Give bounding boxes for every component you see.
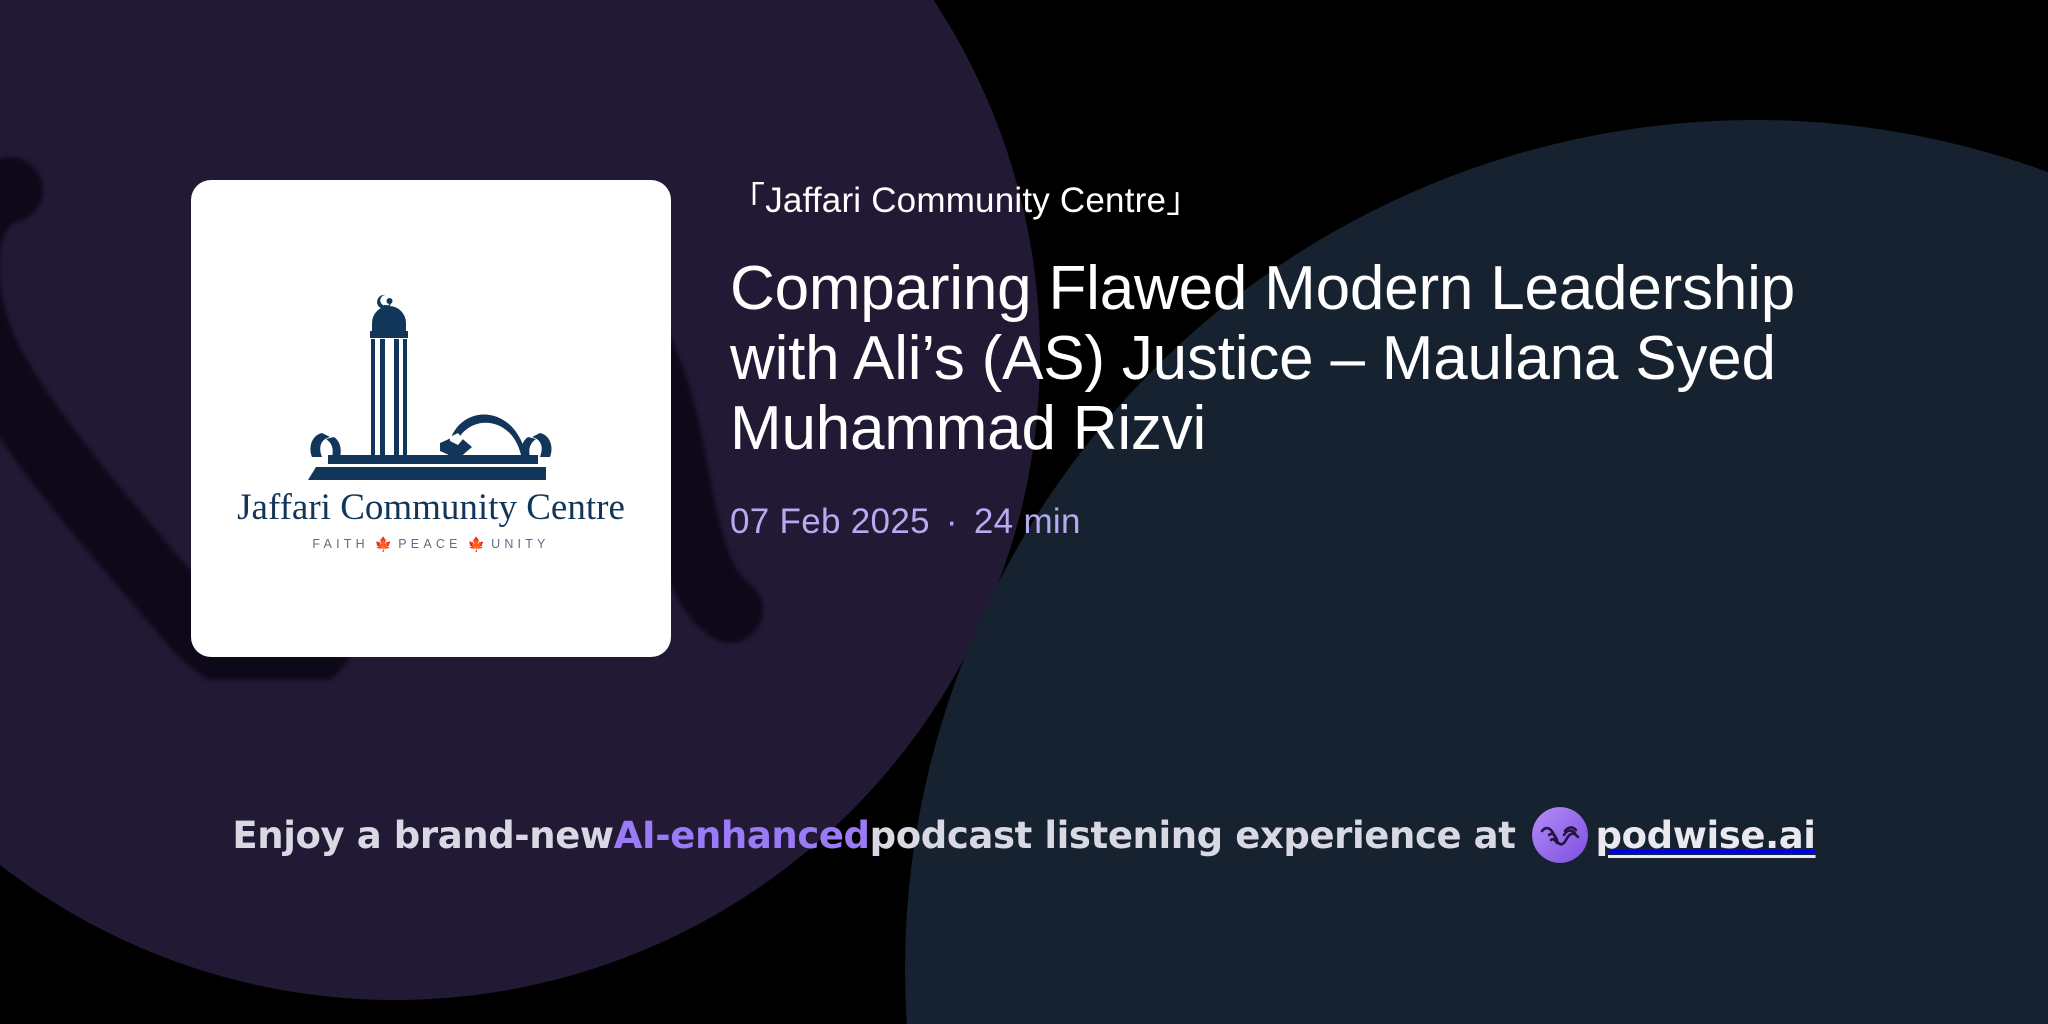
podwise-brand-link[interactable]: podwise.ai [1532,807,1816,863]
footer-accent-text: AI-enhanced [614,814,870,857]
episode-meta: 07 Feb 2025 · 24 min [730,502,1960,542]
podwise-episode-share-card: Jaffari Community Centre FAITH 🍁 PEACE 🍁… [0,0,2048,1024]
episode-title: Comparing Flawed Modern Leadership with … [730,254,1900,464]
podcast-name: 「Jaffari Community Centre」 [730,180,1960,222]
episode-duration: 24 min [974,502,1081,541]
episode-info-column: 「Jaffari Community Centre」 Comparing Fla… [730,180,1960,542]
cover-tagline-word-faith: FAITH [312,537,368,551]
maple-leaf-icon: 🍁 [375,536,392,553]
meta-separator: · [940,502,964,541]
mosque-minaret-logo-icon [288,285,574,485]
maple-leaf-icon: 🍁 [468,536,485,553]
footer-lead-text: Enjoy a brand-new [232,814,613,857]
footer-trail-text: podcast listening experience at [870,814,1516,857]
podcast-cover-art: Jaffari Community Centre FAITH 🍁 PEACE 🍁… [191,180,671,657]
footer-promo: Enjoy a brand-new AI-enhanced podcast li… [0,800,2048,870]
podwise-wave-logo-icon[interactable] [1532,807,1588,863]
cover-tagline-word-unity: UNITY [491,537,550,551]
cover-wordmark: Jaffari Community Centre [237,489,625,526]
podwise-brand-name[interactable]: podwise.ai [1596,814,1816,857]
episode-date: 07 Feb 2025 [730,502,930,541]
cover-tagline-word-peace: PEACE [398,537,461,551]
cover-tagline: FAITH 🍁 PEACE 🍁 UNITY [312,535,549,552]
